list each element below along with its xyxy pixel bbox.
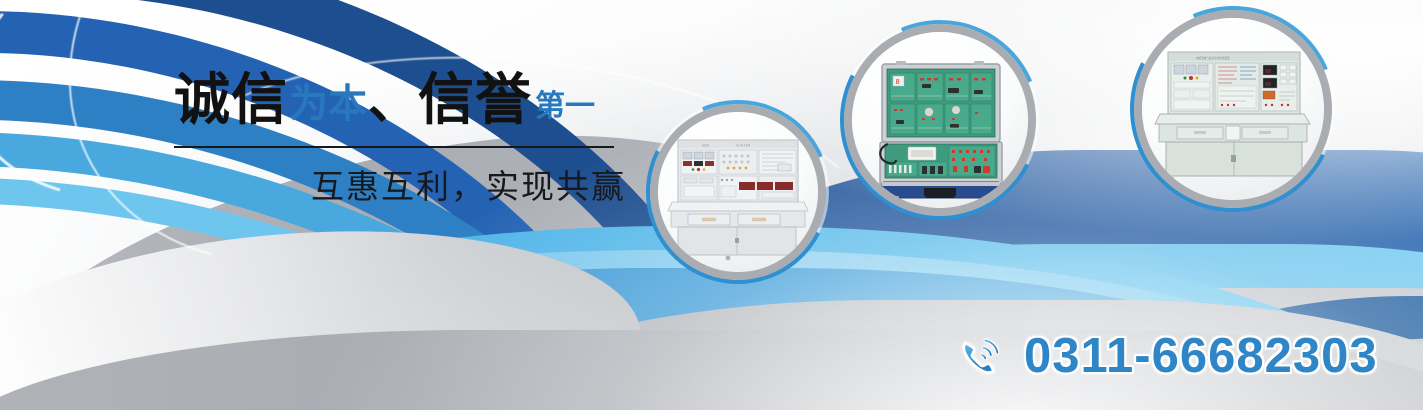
svg-text:电工电子技术: 电工电子技术 (736, 143, 751, 147)
product-medallion-1[interactable]: 实验台电工电子技术 (658, 112, 818, 272)
headline-divider (174, 146, 614, 148)
svg-text:88: 88 (1265, 82, 1271, 88)
svg-text:88: 88 (1265, 69, 1271, 75)
headline: 诚信 为本 、 信誉 第一 (174, 72, 595, 128)
headline-separator: 、 (368, 76, 418, 126)
subtitle: 互惠互利，实现共赢 (174, 160, 626, 208)
electrical-training-bench-icon: 电机及电气技术实训考核装置 (1142, 18, 1324, 200)
medallion-image-area: 电机及电气技术实训考核装置 (1142, 18, 1324, 200)
product-medallion-2[interactable]: 8 (852, 32, 1028, 208)
headline-part-1: 诚信 (174, 72, 288, 128)
portable-training-case-icon: 8 (852, 32, 1028, 208)
contact-phone-block[interactable]: 0311-66682303 (956, 328, 1378, 384)
phone-call-icon (956, 330, 1008, 382)
phone-number: 0311-66682303 (1024, 328, 1378, 384)
headline-accent-2: 第一 (535, 92, 595, 122)
promotional-banner: 诚信 为本 、 信誉 第一 互惠互利，实现共赢 实验台电工电子技术 (0, 0, 1423, 410)
svg-text:实验台: 实验台 (702, 143, 710, 147)
headline-accent-1: 为本 (289, 85, 367, 124)
product-medallion-3[interactable]: 电机及电气技术实训考核装置 (1142, 18, 1324, 200)
medallion-image-area: 实验台电工电子技术 (658, 112, 818, 272)
svg-text:8: 8 (896, 78, 900, 86)
svg-text:电机及电气技术实训考核装置: 电机及电气技术实训考核装置 (1196, 56, 1230, 60)
headline-part-3: 信誉 (418, 72, 532, 128)
medallion-image-area: 8 (852, 32, 1028, 208)
electrical-test-bench-icon: 实验台电工电子技术 (658, 112, 818, 272)
